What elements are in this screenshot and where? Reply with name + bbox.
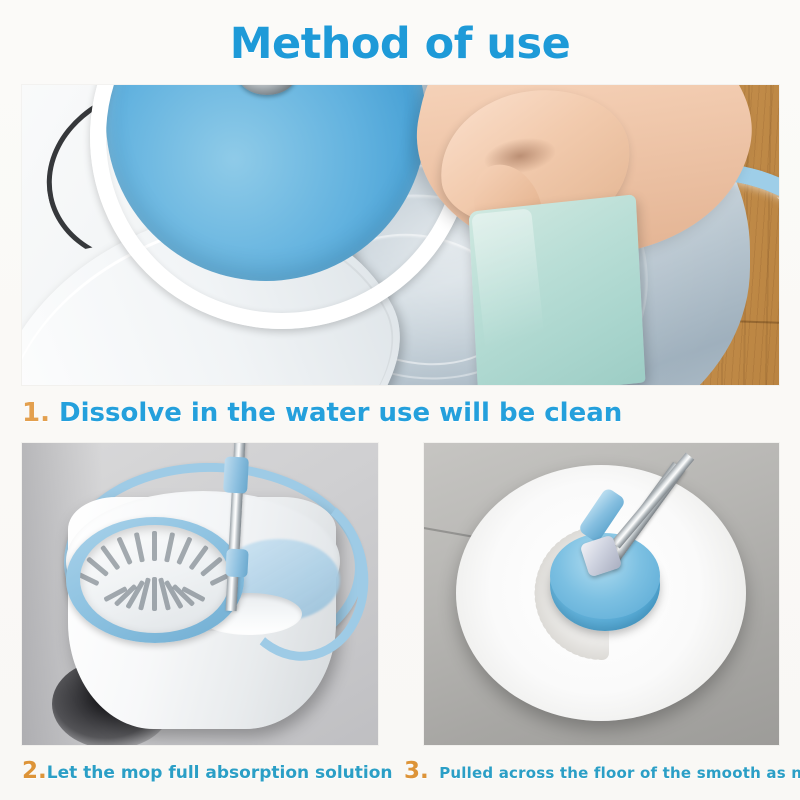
step-3-image	[424, 443, 779, 745]
step-3-scene	[424, 443, 779, 745]
step-1-scene	[22, 85, 779, 385]
step-1-number: 1.	[22, 398, 50, 428]
step-3-number: 3.	[404, 758, 429, 784]
mop-pole-collar-bottom	[225, 548, 248, 577]
step-1-image	[22, 85, 779, 385]
step-2-scene	[22, 443, 378, 745]
page-title-bar: Method of use	[0, 18, 800, 70]
step-2-caption: 2.Let the mop full absorption solution	[22, 757, 393, 787]
step-1-text: Dissolve in the water use will be clean	[59, 398, 622, 428]
product-instruction-page: Method of use	[0, 0, 800, 800]
step-3-text: Pulled across the floor of the smooth as…	[439, 764, 800, 782]
step-1-caption: 1. Dissolve in the water use will be cle…	[22, 396, 622, 430]
step-3-caption: 3. Pulled across the floor of the smooth…	[404, 757, 800, 787]
step-2-image	[22, 443, 378, 745]
mop-pole-collar-top	[223, 456, 249, 493]
step-2-text: Let the mop full absorption solution	[47, 763, 393, 783]
page-title: Method of use	[230, 18, 571, 70]
spinner-basket	[80, 525, 230, 633]
step-2-number: 2.	[22, 758, 47, 784]
